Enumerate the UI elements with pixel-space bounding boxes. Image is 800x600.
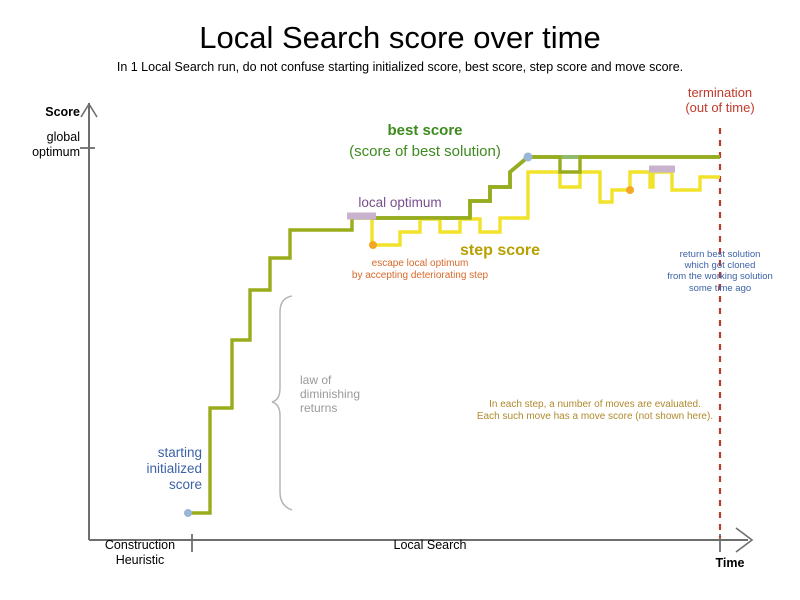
best-score-sublabel: (score of best solution) [280,143,570,161]
y-axis-tick-label-global-optimum: global optimum [0,130,80,160]
page-subtitle: In 1 Local Search run, do not confuse st… [0,60,800,75]
escape-local-optimum-note: escape local optimum by accepting deteri… [300,258,540,282]
escape-local-optimum-dot [369,241,377,249]
page-title: Local Search score over time [0,20,800,57]
y-axis-label: Score [20,105,80,120]
deteriorating-step-dot [626,186,634,194]
best-score-label: best score [300,122,550,140]
law-of-diminishing-returns-label: law of diminishing returns [300,373,400,415]
starting-initialized-score-dot [184,509,192,517]
local-optimum-label: local optimum [300,195,500,211]
termination-label: termination (out of time) [640,85,800,116]
starting-initialized-score-label: starting initialized score [80,445,202,493]
step-score-label: step score [420,242,580,261]
diminishing-returns-brace-icon [272,296,292,510]
move-score-note: In each step, a number of moves are eval… [430,399,760,423]
return-best-solution-note: return best solution which got cloned fr… [640,249,800,294]
x-axis-section-local-search: Local Search [350,538,510,553]
x-axis-label: Time [700,556,760,571]
diagram-canvas: Local Search score over time In 1 Local … [0,0,800,600]
x-axis-section-construction-heuristic: Construction Heuristic [78,538,202,568]
